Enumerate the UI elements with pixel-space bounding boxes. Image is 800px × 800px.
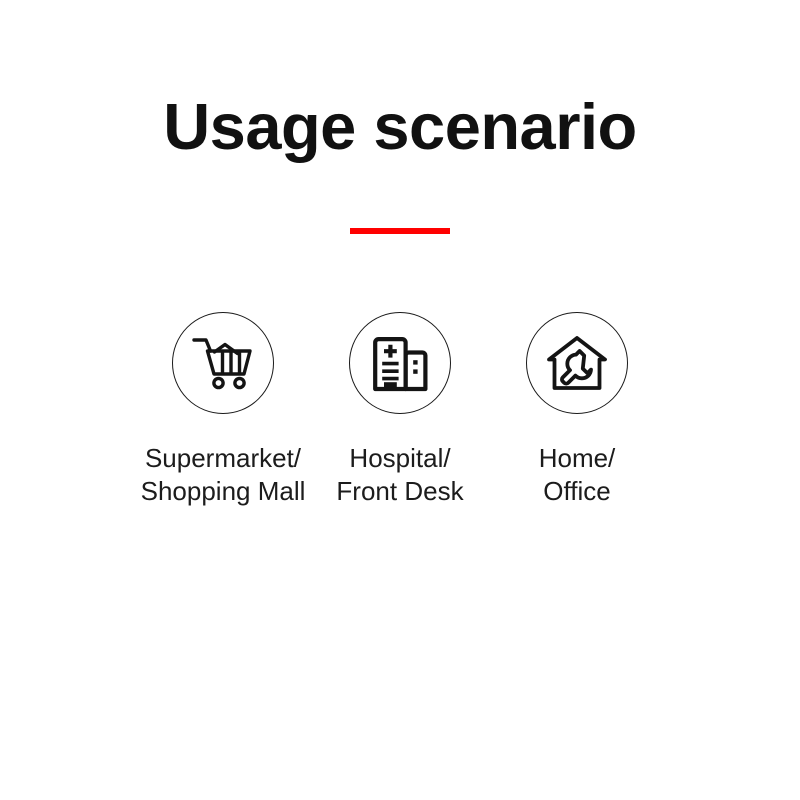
hospital-building-icon (371, 334, 429, 392)
scenario-label-hospital: Hospital/ Front Desk (336, 442, 463, 508)
scenario-label-home: Home/ Office (539, 442, 616, 508)
icon-circle-home (526, 312, 628, 414)
page-title: Usage scenario (0, 92, 800, 162)
house-wrench-icon (546, 335, 608, 391)
icon-circle-hospital (349, 312, 451, 414)
scenario-list: Supermarket/ Shopping Mall (0, 312, 800, 508)
usage-scenario-page: Usage scenario (0, 0, 800, 800)
shopping-cart-icon (192, 336, 254, 390)
scenario-item-hospital[interactable]: Hospital/ Front Desk (312, 312, 489, 508)
icon-circle-supermarket (172, 312, 274, 414)
red-accent-divider (350, 228, 450, 234)
scenario-label-supermarket: Supermarket/ Shopping Mall (141, 442, 306, 508)
scenario-item-home[interactable]: Home/ Office (489, 312, 666, 508)
scenario-item-supermarket[interactable]: Supermarket/ Shopping Mall (135, 312, 312, 508)
title-underline-wrap (0, 228, 800, 234)
